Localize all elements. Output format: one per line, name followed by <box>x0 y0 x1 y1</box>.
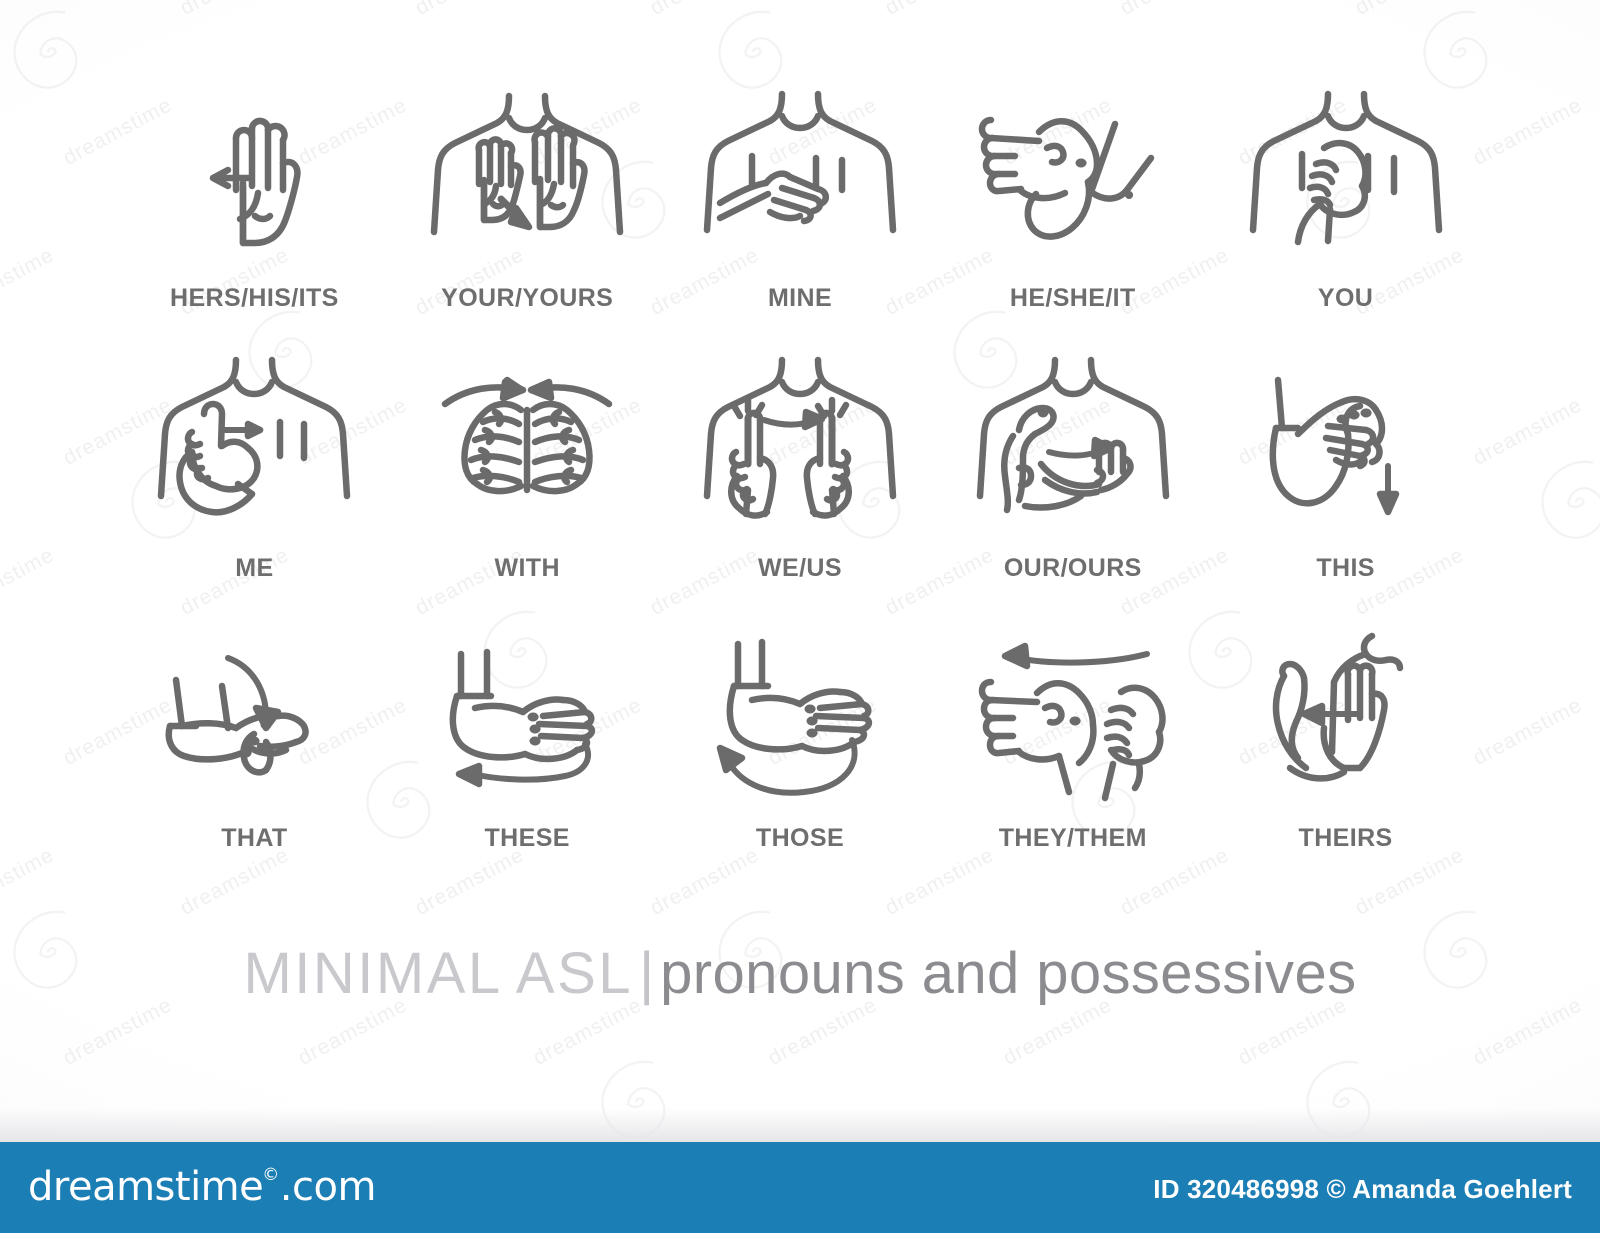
icon-cell-these: THESE <box>391 618 664 888</box>
icon-label: HE/SHE/IT <box>1010 284 1136 313</box>
spiral-watermark-icon <box>0 4 96 100</box>
logo-tld: .com <box>280 1164 376 1210</box>
two-fists-together-icon <box>391 348 664 548</box>
arm-pointing-down-arrow-icon <box>118 618 391 818</box>
icon-cell-theirs: THEIRS <box>1209 618 1482 888</box>
series-title: MINIMAL ASL|pronouns and possessives <box>0 940 1600 1007</box>
footer-top-shade <box>0 1108 1600 1142</box>
icon-cell-mine: MINE <box>664 78 937 348</box>
title-divider: | <box>633 941 660 1006</box>
watermark-text: dreamstime <box>1116 0 1233 21</box>
two-open-palms-torso-icon <box>391 78 664 278</box>
index-finger-pointing-forward-torso-icon <box>1209 78 1482 278</box>
watermark-text: dreamstime <box>411 0 528 21</box>
watermark-text: dreamstime <box>176 0 293 21</box>
dreamstime-logo[interactable]: dreamstime©.com <box>28 1164 376 1210</box>
watermark-text: dreamstime <box>881 0 998 21</box>
icon-label: THIS <box>1316 554 1375 583</box>
logo-word: dreamstime <box>28 1164 263 1210</box>
icon-cell-this: THIS <box>1209 348 1482 618</box>
icon-cell-those: THOSE <box>664 618 937 888</box>
artboard: dreamstimedreamstimedreamstimedreamstime… <box>0 0 1600 1142</box>
icon-cell-our-ours: OUR/OURS <box>936 348 1209 618</box>
icon-label: OUR/OURS <box>1004 554 1142 583</box>
watermark-text: dreamstime <box>0 0 58 21</box>
icon-label: THESE <box>485 824 570 853</box>
arm-pointing-flat-hand-left-arrow-icon <box>391 618 664 818</box>
icon-label: MINE <box>768 284 832 313</box>
icon-label: WITH <box>494 554 559 583</box>
two-flat-hands-left-arrow-icon <box>1209 618 1482 818</box>
watermark-text: dreamstime <box>0 543 58 620</box>
icon-cell-they-them: THEY/THEM <box>936 618 1209 888</box>
downward-hand-arrow-icon <box>1209 348 1482 548</box>
index-fingers-sweep-chest-icon <box>664 348 937 548</box>
watermark-text: dreamstime <box>1469 93 1586 170</box>
flat-hand-on-chest-icon <box>664 78 937 278</box>
registered-icon: © <box>262 1165 279 1185</box>
icon-cell-with: WITH <box>391 348 664 618</box>
icon-cell-that: THAT <box>118 618 391 888</box>
icon-cell-you: YOU <box>1209 78 1482 348</box>
title-thin-part: MINIMAL ASL <box>243 941 633 1006</box>
watermark-text: dreamstime <box>1469 693 1586 770</box>
watermark-text: dreamstime <box>1351 0 1468 21</box>
index-finger-to-chest-icon <box>118 348 391 548</box>
icon-label: WE/US <box>758 554 842 583</box>
spiral-watermark-icon <box>1528 454 1600 550</box>
icon-cell-me: ME <box>118 348 391 618</box>
watermark-text: dreamstime <box>0 843 58 920</box>
icon-label: THEIRS <box>1299 824 1393 853</box>
asl-icon-grid: HERS/HIS/ITS <box>118 78 1482 888</box>
image-credit: ID 320486998 © Amanda Goehlert <box>1153 1174 1572 1205</box>
arm-pointing-flat-hand-sweep-icon <box>664 618 937 818</box>
cupped-hand-sweep-chest-icon <box>936 348 1209 548</box>
icon-label: THAT <box>221 824 287 853</box>
index-finger-pointing-side-icon <box>936 78 1209 278</box>
title-bold-part: pronouns and possessives <box>660 941 1356 1006</box>
icon-label: HERS/HIS/ITS <box>170 284 339 313</box>
icon-label: YOU <box>1318 284 1373 313</box>
icon-label: THOSE <box>756 824 844 853</box>
watermark-text: dreamstime <box>1469 393 1586 470</box>
icon-cell-your-yours: YOUR/YOURS <box>391 78 664 348</box>
icon-label: ME <box>235 554 273 583</box>
icon-label: THEY/THEM <box>999 824 1147 853</box>
icon-cell-he-she-it: HE/SHE/IT <box>936 78 1209 348</box>
dreamstime-footer-bar: dreamstime©.com ID 320486998 © Amanda Go… <box>0 1142 1600 1233</box>
two-pointing-hands-left-arrow-icon <box>936 618 1209 818</box>
icon-cell-we-us: WE/US <box>664 348 937 618</box>
icon-cell-hers-his-its: HERS/HIS/ITS <box>118 78 391 348</box>
icon-label: YOUR/YOURS <box>441 284 613 313</box>
watermark-text: dreamstime <box>646 0 763 21</box>
watermark-text: dreamstime <box>0 243 58 320</box>
open-palm-moving-left-icon <box>118 78 391 278</box>
